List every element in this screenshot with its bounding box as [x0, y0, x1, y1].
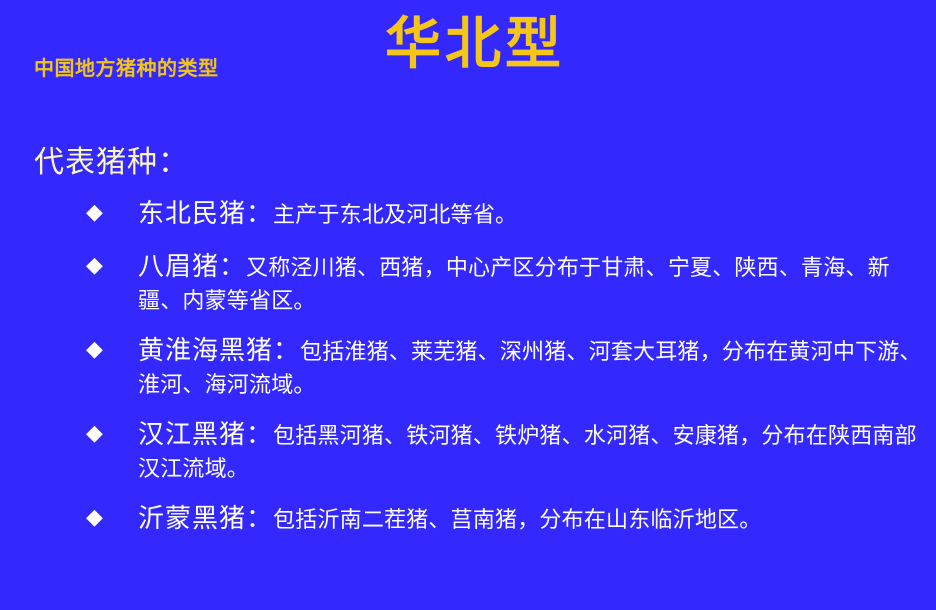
list-item: ◆ 汉江黑猪：包括黑河猪、铁河猪、铁炉猪、水河猪、安康猪，分布在陕西南部汉江流域… — [86, 417, 932, 485]
list-item-description: 又称泾川猪、西猪，中心产区分布于甘肃、宁夏、陕西、青海、新疆、内蒙等省区。 — [138, 256, 890, 314]
list-item-text: 汉江黑猪：包括黑河猪、铁河猪、铁炉猪、水河猪、安康猪，分布在陕西南部汉江流域。 — [138, 417, 932, 485]
slide-header: 中国地方猪种的类型 华北型 — [0, 0, 936, 108]
list-item-breed-name: 黄淮海黑猪： — [138, 336, 300, 366]
list-item-text: 八眉猪：又称泾川猪、西猪，中心产区分布于甘肃、宁夏、陕西、青海、新疆、内蒙等省区… — [138, 249, 932, 317]
list-item: ◆ 黄淮海黑猪：包括淮猪、莱芜猪、深州猪、河套大耳猪，分布在黄河中下游、淮河、海… — [86, 333, 932, 401]
diamond-bullet-icon: ◆ — [86, 333, 138, 361]
list-item-text: 沂蒙黑猪：包括沂南二茬猪、莒南猪，分布在山东临沂地区。 — [138, 501, 932, 538]
list-item-breed-name: 沂蒙黑猪： — [138, 504, 273, 534]
section-lead-label: 代表猪种： — [34, 137, 189, 181]
diamond-bullet-icon: ◆ — [86, 249, 138, 277]
list-item: ◆ 东北民猪：主产于东北及河北等省。 — [86, 196, 932, 233]
diamond-bullet-icon: ◆ — [86, 196, 138, 224]
list-item: ◆ 八眉猪：又称泾川猪、西猪，中心产区分布于甘肃、宁夏、陕西、青海、新疆、内蒙等… — [86, 249, 932, 317]
list-item-description: 包括沂南二茬猪、莒南猪，分布在山东临沂地区。 — [273, 508, 761, 533]
diamond-bullet-icon: ◆ — [86, 417, 138, 445]
list-item: ◆ 沂蒙黑猪：包括沂南二茬猪、莒南猪，分布在山东临沂地区。 — [86, 501, 932, 538]
list-item-breed-name: 东北民猪： — [138, 199, 273, 229]
bullet-list: ◆ 东北民猪：主产于东北及河北等省。 ◆ 八眉猪：又称泾川猪、西猪，中心产区分布… — [86, 196, 932, 554]
list-item-description: 主产于东北及河北等省。 — [273, 203, 517, 228]
presentation-slide: 中国地方猪种的类型 华北型 代表猪种： ◆ 东北民猪：主产于东北及河北等省。 ◆… — [0, 0, 936, 610]
list-item-breed-name: 八眉猪： — [138, 252, 246, 282]
list-item-text: 黄淮海黑猪：包括淮猪、莱芜猪、深州猪、河套大耳猪，分布在黄河中下游、淮河、海河流… — [138, 333, 932, 401]
diamond-bullet-icon: ◆ — [86, 501, 138, 529]
list-item-text: 东北民猪：主产于东北及河北等省。 — [138, 196, 932, 233]
list-item-breed-name: 汉江黑猪： — [138, 420, 273, 450]
slide-title: 华北型 — [0, 14, 936, 76]
